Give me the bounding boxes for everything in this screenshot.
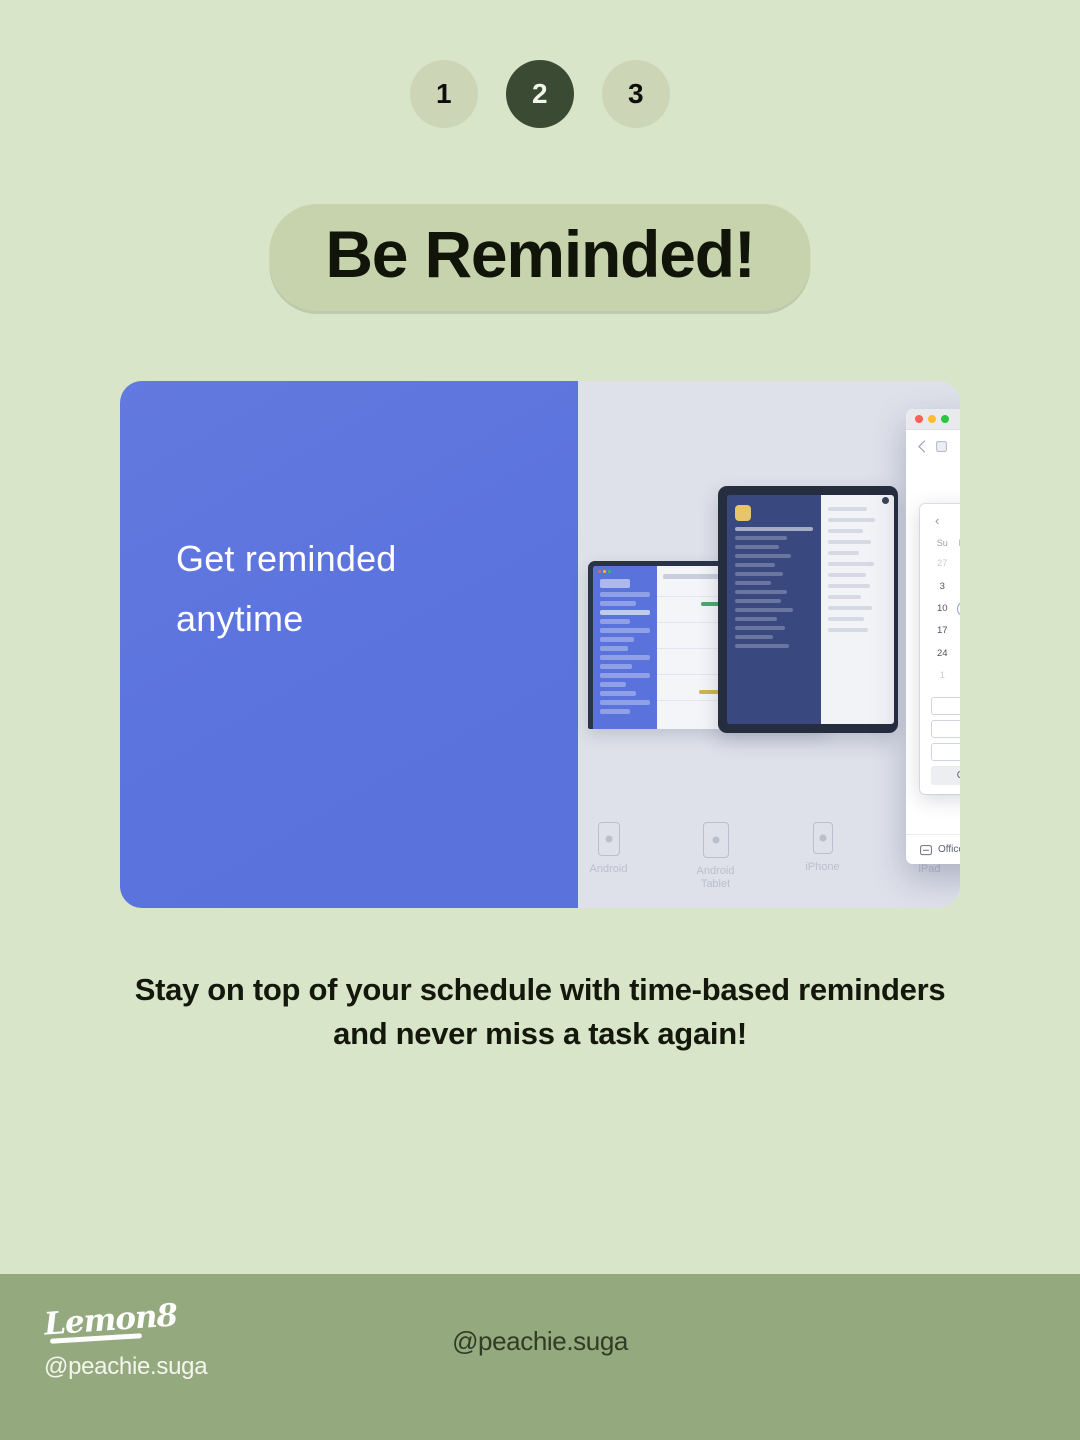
window-title: All - TickTick (906, 413, 960, 425)
brand-handle: @peachie.suga (44, 1353, 207, 1381)
tablet-sidebar (727, 495, 821, 724)
caption-text: Stay on top of your schedule with time-b… (0, 968, 1080, 1056)
footer-band: Lemon8 @peachie.suga @peachie.suga (0, 1274, 1080, 1440)
calendar-day[interactable]: 27 (931, 553, 954, 575)
calendar-day[interactable]: 1 (931, 665, 954, 687)
calendar-week: 1234567 (931, 665, 960, 687)
calendar-day-number: 17 (934, 623, 950, 639)
calendar-day-number: 18 (957, 623, 960, 639)
platform-label: Android Tablet (685, 865, 746, 893)
calendar-day-number: 2 (957, 668, 960, 684)
tablet-icon (703, 822, 729, 858)
window-titlebar: All - TickTick (906, 409, 960, 430)
step-dot-2[interactable]: 2 (506, 60, 574, 128)
set-repeat-button[interactable]: Set Repeat (931, 743, 960, 761)
tablet-screen (727, 495, 894, 724)
app-body: ‹ April 2016 › Su Mo Tu (906, 463, 960, 864)
calendar-day-number: 27 (934, 556, 950, 572)
page-title: Be Reminded! (325, 220, 754, 289)
laptop-sidebar (593, 566, 657, 729)
platform-android-tablet: Android Tablet (685, 822, 746, 893)
inbox-icon (920, 844, 932, 856)
step-label: 3 (628, 78, 644, 110)
step-indicator: 1 2 3 (0, 60, 1080, 128)
calendar-day-number: 1 (934, 668, 950, 684)
promo-card: Get reminded anytime (120, 381, 960, 908)
promo-line-2: anytime (176, 589, 397, 649)
calendar-day[interactable]: 28 (954, 553, 960, 575)
promo-line-1: Get reminded (176, 529, 397, 589)
set-reminder-button[interactable]: Set Reminder (931, 720, 960, 738)
window-lights (593, 566, 657, 573)
calendar-day[interactable]: 18 (954, 620, 960, 642)
calendar-day-number: 28 (957, 556, 960, 572)
calendar-day[interactable]: 2 (954, 665, 960, 687)
step-dot-1[interactable]: 1 (410, 60, 478, 128)
platform-label: Android (578, 863, 639, 877)
calendar-day[interactable]: 11 (954, 598, 960, 620)
step-label: 1 (436, 78, 452, 110)
phone-icon (813, 822, 833, 854)
platform-label: iPhone (792, 861, 853, 875)
clear-button[interactable]: Clear (931, 766, 960, 785)
promo-text: Get reminded anytime (176, 529, 397, 649)
calendar-week: 3456789 (931, 575, 960, 597)
weekday: Mo (954, 536, 960, 553)
set-time-button[interactable]: Set Time (931, 697, 960, 715)
weekday: Su (931, 536, 954, 553)
calendar-header: ‹ April 2016 › (931, 514, 960, 527)
calendar-day[interactable]: 17 (931, 620, 954, 642)
weekday-header: Su Mo Tu We Th Fr Sa (931, 536, 960, 553)
calendar-day[interactable]: 10 (931, 598, 954, 620)
calendar-day[interactable]: 24 (931, 643, 954, 665)
center-handle: @peachie.suga (0, 1326, 1080, 1357)
calendar-footer: Clear OK (931, 766, 960, 785)
platform-list: Android Android Tablet iPhone iPad (578, 822, 960, 893)
step-label: 2 (532, 78, 548, 110)
task-footer-toolbar: Office (906, 834, 960, 864)
calendar-grid: Su Mo Tu We Th Fr Sa 2728293031123456789… (931, 536, 960, 687)
calendar-week: 17181920212223 (931, 620, 960, 642)
platform-android: Android (578, 822, 639, 893)
calendar-week: 10111213141516 (931, 598, 960, 620)
devices-panel: Android Android Tablet iPhone iPad (578, 381, 960, 908)
calendar-day-number: 11 (957, 601, 960, 617)
date-picker-popover: ‹ April 2016 › Su Mo Tu (920, 504, 960, 794)
calendar-week: 272829303112 (931, 553, 960, 575)
platform-label: iPad (899, 863, 960, 877)
calendar-day-number: 4 (957, 579, 960, 595)
list-selector[interactable]: Office (920, 844, 960, 856)
calendar-day[interactable]: 4 (954, 575, 960, 597)
avatar (735, 505, 751, 521)
prev-month-button[interactable]: ‹ (935, 514, 939, 527)
calendar-actions: Set Time Set Reminder Set Repeat (931, 697, 960, 761)
calendar-day-number: 10 (934, 601, 950, 617)
app-toolbar: 11 Apr 11, Mon (906, 430, 960, 463)
calendar-day[interactable]: 25 (954, 643, 960, 665)
platform-iphone: iPhone (792, 822, 853, 893)
calendar-day[interactable]: 3 (931, 575, 954, 597)
calendar-day-number: 24 (934, 646, 950, 662)
promo-panel: Get reminded anytime (120, 381, 578, 908)
camera-dot (882, 497, 889, 504)
phone-icon (598, 822, 620, 856)
caption-line-2: and never miss a task again! (0, 1012, 1080, 1056)
caption-line-1: Stay on top of your schedule with time-b… (0, 968, 1080, 1012)
tablet-task-list (821, 495, 894, 724)
title-badge: Be Reminded! (269, 204, 810, 311)
chevron-left-icon[interactable] (917, 440, 926, 453)
poster-canvas: 1 2 3 Be Reminded! Get reminded anytime (0, 0, 1080, 1440)
step-dot-3[interactable]: 3 (602, 60, 670, 128)
calendar-week: 24252627282930 (931, 643, 960, 665)
ticktick-window: All - TickTick 11 Apr 11, Mon (906, 409, 960, 864)
calendar-day-number: 25 (957, 646, 960, 662)
tablet-mockup (718, 486, 898, 733)
list-name: Office (938, 844, 960, 855)
calendar-day-number: 3 (934, 579, 950, 595)
square-icon[interactable] (936, 441, 947, 452)
